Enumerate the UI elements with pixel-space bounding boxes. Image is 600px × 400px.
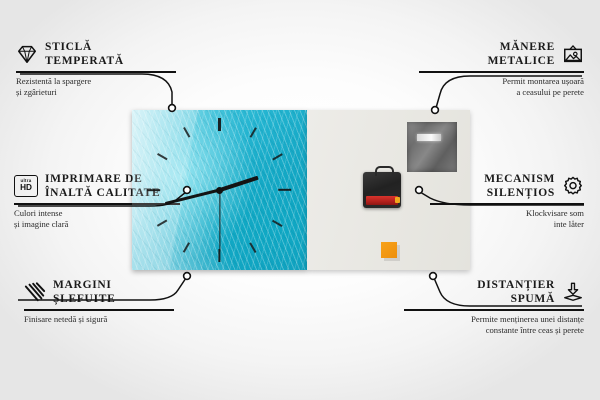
clock-mechanism-photo bbox=[363, 172, 401, 208]
callout-description: Permit montarea ușoară a ceasului pe per… bbox=[419, 76, 584, 98]
clock-tick bbox=[272, 220, 282, 227]
callout-header: STICLĂ TEMPERATĂ bbox=[16, 40, 181, 68]
callout-divider bbox=[24, 309, 174, 311]
callout-header: DISTANȚIER SPUMĂ bbox=[404, 278, 584, 306]
callout-foam-spacer: DISTANȚIER SPUMĂ Permite menținerea unei… bbox=[404, 278, 584, 336]
callout-divider bbox=[430, 203, 584, 205]
ultra-hd-badge-icon: ultra HD bbox=[14, 175, 38, 197]
clock-minute-hand bbox=[165, 189, 220, 205]
callout-polished-edges: MARGINI ȘLEFUITE Finisare netedă și sigu… bbox=[24, 278, 179, 325]
clock-dial bbox=[132, 110, 307, 270]
callout-divider bbox=[16, 71, 176, 73]
diagonal-stripes-icon bbox=[24, 281, 46, 303]
product-image bbox=[132, 110, 470, 270]
clock-tick bbox=[249, 242, 256, 252]
callout-tempered-glass: STICLĂ TEMPERATĂ Rezistentă la spargere … bbox=[16, 40, 181, 98]
callout-description: Finisare netedă și sigură bbox=[24, 314, 179, 325]
gear-icon bbox=[562, 175, 584, 197]
callout-header: MARGINI ȘLEFUITE bbox=[24, 278, 179, 306]
callout-header: MĂNERE METALICE bbox=[419, 40, 584, 68]
battery-photo bbox=[366, 196, 398, 205]
callout-title: MECANISM SILENȚIOS bbox=[484, 172, 555, 200]
callout-divider bbox=[404, 309, 584, 311]
clock-center-cap bbox=[216, 187, 223, 194]
callout-title: DISTANȚIER SPUMĂ bbox=[477, 278, 555, 306]
ultra-hd-bottom-label: HD bbox=[20, 184, 32, 192]
infographic-canvas: STICLĂ TEMPERATĂ Rezistentă la spargere … bbox=[0, 0, 600, 400]
callout-silent-mechanism: MECANISM SILENȚIOS Klockvisare som inte … bbox=[430, 172, 584, 230]
diamond-icon bbox=[16, 43, 38, 65]
callout-description: Permite menținerea unei distanțe constan… bbox=[404, 314, 584, 336]
callout-metal-hangers: MĂNERE METALICE Permit montarea ușoară a… bbox=[419, 40, 584, 98]
clock-tick bbox=[183, 242, 190, 252]
callout-title: MĂNERE METALICE bbox=[488, 40, 555, 68]
callout-title: STICLĂ TEMPERATĂ bbox=[45, 40, 124, 68]
clock-tick bbox=[183, 127, 190, 137]
clock-hour-hand bbox=[219, 176, 258, 192]
metal-hanger-photo bbox=[407, 122, 457, 172]
clock-tick bbox=[157, 153, 167, 160]
clock-tick bbox=[249, 127, 256, 137]
callout-header: MECANISM SILENȚIOS bbox=[430, 172, 584, 200]
clock-tick bbox=[272, 153, 282, 160]
callout-title: MARGINI ȘLEFUITE bbox=[53, 278, 115, 306]
clock-tick bbox=[157, 220, 167, 227]
callout-description: Rezistentă la spargere și zgârieturi bbox=[16, 76, 181, 98]
clock-tick bbox=[279, 189, 292, 191]
clock-face-panel bbox=[132, 110, 307, 270]
arrow-down-pad-icon bbox=[562, 281, 584, 303]
callout-divider bbox=[419, 71, 584, 73]
clock-tick bbox=[218, 118, 220, 131]
picture-hanger-icon bbox=[562, 43, 584, 65]
callout-description: Klockvisare som inte låter bbox=[430, 208, 584, 230]
clock-tick bbox=[148, 189, 161, 191]
clock-second-hand bbox=[219, 190, 220, 252]
foam-spacer-photo bbox=[381, 242, 397, 258]
